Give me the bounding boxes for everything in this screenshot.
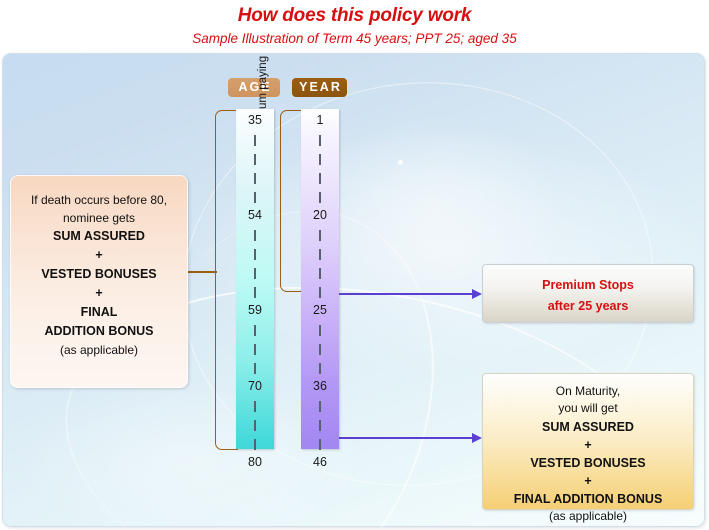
arrow-to-maturity xyxy=(339,437,473,439)
death-line-3: SUM ASSURED xyxy=(18,227,180,246)
death-line-5: VESTED BONUSES xyxy=(18,265,180,284)
age-tick xyxy=(254,325,256,336)
age-value: 59 xyxy=(236,303,274,317)
maturity-benefit-box: On Maturity, you will get SUM ASSURED + … xyxy=(483,374,693,509)
year-tick xyxy=(319,173,321,184)
age-tick xyxy=(254,192,256,203)
year-value: 1 xyxy=(301,113,339,127)
age-tick xyxy=(254,173,256,184)
year-tick xyxy=(319,344,321,355)
age-span-bracket-arrow xyxy=(184,271,217,273)
year-tick xyxy=(319,192,321,203)
age-value: 35 xyxy=(236,113,274,127)
death-line-6: + xyxy=(18,284,180,303)
age-value: 54 xyxy=(236,208,274,222)
age-tick xyxy=(254,439,256,450)
maturity-line-5: VESTED BONUSES xyxy=(489,454,687,472)
death-line-2: nominee gets xyxy=(18,209,180,227)
decorative-dot xyxy=(398,160,403,165)
age-tick xyxy=(254,249,256,260)
arrow-to-premium-stops xyxy=(339,293,473,295)
death-line-7: FINAL xyxy=(18,303,180,322)
year-tick xyxy=(319,268,321,279)
year-scale-column: 120253646 xyxy=(301,109,339,449)
age-value: 70 xyxy=(236,379,274,393)
year-tick xyxy=(319,135,321,146)
year-tick xyxy=(319,439,321,450)
death-line-1: If death occurs before 80, xyxy=(18,191,180,209)
year-column-badge: YEAR xyxy=(292,78,347,97)
age-tick xyxy=(254,344,256,355)
age-tick xyxy=(254,363,256,374)
page-subtitle: Sample Illustration of Term 45 years; PP… xyxy=(0,31,709,46)
page-title: How does this policy work xyxy=(0,5,709,27)
premium-paying-term-bracket xyxy=(280,110,302,292)
age-tick xyxy=(254,420,256,431)
age-tick xyxy=(254,401,256,412)
year-tick xyxy=(319,249,321,260)
age-value: 80 xyxy=(236,455,274,469)
age-tick xyxy=(254,287,256,298)
year-tick xyxy=(319,154,321,165)
illustration-panel: AGE YEAR Premium paying term 3554597080 … xyxy=(2,53,705,527)
year-value: 36 xyxy=(301,379,339,393)
maturity-line-7: FINAL ADDITION BONUS xyxy=(489,490,687,508)
death-line-8: ADDITION BONUS xyxy=(18,322,180,341)
age-column-badge: AGE xyxy=(228,78,280,97)
premium-line-2: after 25 years xyxy=(483,296,693,317)
year-tick xyxy=(319,420,321,431)
age-span-bracket xyxy=(215,110,238,450)
age-tick xyxy=(254,154,256,165)
header: How does this policy work Sample Illustr… xyxy=(0,0,709,50)
maturity-line-3: SUM ASSURED xyxy=(489,418,687,436)
age-tick xyxy=(254,135,256,146)
maturity-line-4: + xyxy=(489,436,687,454)
year-tick xyxy=(319,401,321,412)
maturity-line-1: On Maturity, xyxy=(489,383,687,400)
age-tick xyxy=(254,230,256,241)
year-value: 20 xyxy=(301,208,339,222)
year-value: 46 xyxy=(301,455,339,469)
year-tick xyxy=(319,325,321,336)
death-line-9: (as applicable) xyxy=(18,341,180,359)
year-tick xyxy=(319,363,321,374)
year-tick xyxy=(319,287,321,298)
year-tick xyxy=(319,230,321,241)
age-scale-column: 3554597080 xyxy=(236,109,274,449)
premium-line-1: Premium Stops xyxy=(483,275,693,296)
age-tick xyxy=(254,268,256,279)
premium-stops-box: Premium Stops after 25 years xyxy=(483,265,693,322)
death-line-4: + xyxy=(18,246,180,265)
maturity-line-2: you will get xyxy=(489,400,687,417)
year-value: 25 xyxy=(301,303,339,317)
maturity-line-6: + xyxy=(489,472,687,490)
maturity-line-8: (as applicable) xyxy=(489,508,687,525)
death-benefit-box: If death occurs before 80, nominee gets … xyxy=(10,175,188,388)
